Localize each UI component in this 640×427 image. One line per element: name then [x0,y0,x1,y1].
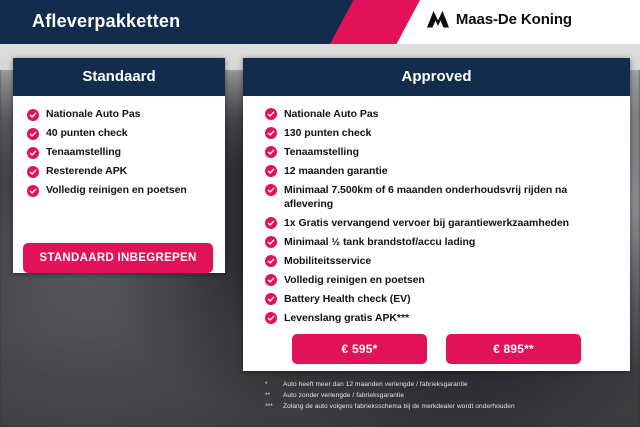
card-body-approved: Nationale Auto Pas 130 punten check Tena… [243,96,630,330]
package-card-approved: Approved Nationale Auto Pas 130 punten c… [243,58,630,371]
check-circle-icon [265,108,277,120]
feature-label: Nationale Auto Pas [284,107,378,121]
check-circle-icon [27,128,39,140]
afleverpakketten-page: Afleverpakketten Maas-De Koning Standaar… [0,0,640,427]
package-card-standaard: Standaard Nationale Auto Pas 40 punten c… [13,58,225,273]
feature-label: Minimaal ½ tank brandstof/accu lading [284,235,475,249]
maas-de-koning-m-logo-icon [427,11,449,28]
footnote-item: *** Zolang de auto volgens fabrieksschem… [265,401,625,412]
check-circle-icon [265,293,277,305]
feature-label: Volledig reinigen en poetsen [284,273,425,287]
feature-label: 40 punten check [46,127,128,140]
page-title: Afleverpakketten [32,11,180,32]
check-circle-icon [27,147,39,159]
feature-label: Battery Health check (EV) [284,292,411,306]
check-circle-icon [27,166,39,178]
footnote-text: Auto zonder verlengde / fabrieksgarantie [283,390,625,401]
price-button-895[interactable]: € 895** [446,334,581,364]
feature-label: Mobiliteitsservice [284,254,371,268]
feature-item: 40 punten check [27,127,213,140]
price-button-row: € 595* € 895** [243,330,630,376]
feature-item: Nationale Auto Pas [27,108,213,121]
feature-label: 12 maanden garantie [284,164,388,178]
check-circle-icon [265,146,277,158]
card-body-standaard: Nationale Auto Pas 40 punten check Tenaa… [13,96,225,233]
feature-list-approved: Nationale Auto Pas 130 punten check Tena… [265,107,616,325]
check-circle-icon [265,127,277,139]
footnote-marker: * [265,379,277,390]
feature-item: Mobiliteitsservice [265,254,616,268]
feature-label: Tenaamstelling [284,145,359,159]
feature-label: Nationale Auto Pas [46,108,140,121]
check-circle-icon [265,165,277,177]
footnote-text: Zolang de auto volgens fabrieksschema bi… [283,401,625,412]
feature-item: Volledig reinigen en poetsen [265,273,616,287]
feature-list-standaard: Nationale Auto Pas 40 punten check Tenaa… [27,108,213,197]
feature-label: 1x Gratis vervangend vervoer bij garanti… [284,216,569,230]
card-title-approved: Approved [243,58,630,96]
footnote-marker: *** [265,401,277,412]
check-circle-icon [265,274,277,286]
feature-item: Minimaal 7.500km of 6 maanden onderhouds… [265,183,616,211]
feature-label: Tenaamstelling [46,146,121,159]
check-circle-icon [265,312,277,324]
feature-item: Levenslang gratis APK*** [265,311,616,325]
price-button-595[interactable]: € 595* [292,334,427,364]
check-circle-icon [27,185,39,197]
feature-item: Minimaal ½ tank brandstof/accu lading [265,235,616,249]
brand-lockup: Maas-De Koning [427,11,572,28]
check-circle-icon [265,255,277,267]
feature-item: 12 maanden garantie [265,164,616,178]
feature-label: Volledig reinigen en poetsen [46,184,187,197]
feature-item: Battery Health check (EV) [265,292,616,306]
card-title-standaard: Standaard [13,58,225,96]
feature-item: Tenaamstelling [27,146,213,159]
feature-label: Resterende APK [46,165,127,178]
brand-name: Maas-De Koning [456,11,572,28]
check-circle-icon [27,109,39,121]
feature-label: Levenslang gratis APK*** [284,311,409,325]
feature-label: Minimaal 7.500km of 6 maanden onderhouds… [284,183,616,211]
feature-item: Nationale Auto Pas [265,107,616,121]
feature-label: 130 punten check [284,126,371,140]
feature-item: 130 punten check [265,126,616,140]
footnote-item: ** Auto zonder verlengde / fabrieksgaran… [265,390,625,401]
check-circle-icon [265,184,277,196]
feature-item: Volledig reinigen en poetsen [27,184,213,197]
footnote-item: * Auto heeft meer dan 12 maanden verleng… [265,379,625,390]
check-circle-icon [265,236,277,248]
footnotes-block: * Auto heeft meer dan 12 maanden verleng… [265,379,625,412]
feature-item: Tenaamstelling [265,145,616,159]
footnote-text: Auto heeft meer dan 12 maanden verlengde… [283,379,625,390]
feature-item: 1x Gratis vervangend vervoer bij garanti… [265,216,616,230]
feature-item: Resterende APK [27,165,213,178]
standaard-inbegrepen-button[interactable]: STANDAARD INBEGREPEN [23,243,213,273]
check-circle-icon [265,217,277,229]
page-header: Afleverpakketten Maas-De Koning [0,0,640,44]
footnote-marker: ** [265,390,277,401]
